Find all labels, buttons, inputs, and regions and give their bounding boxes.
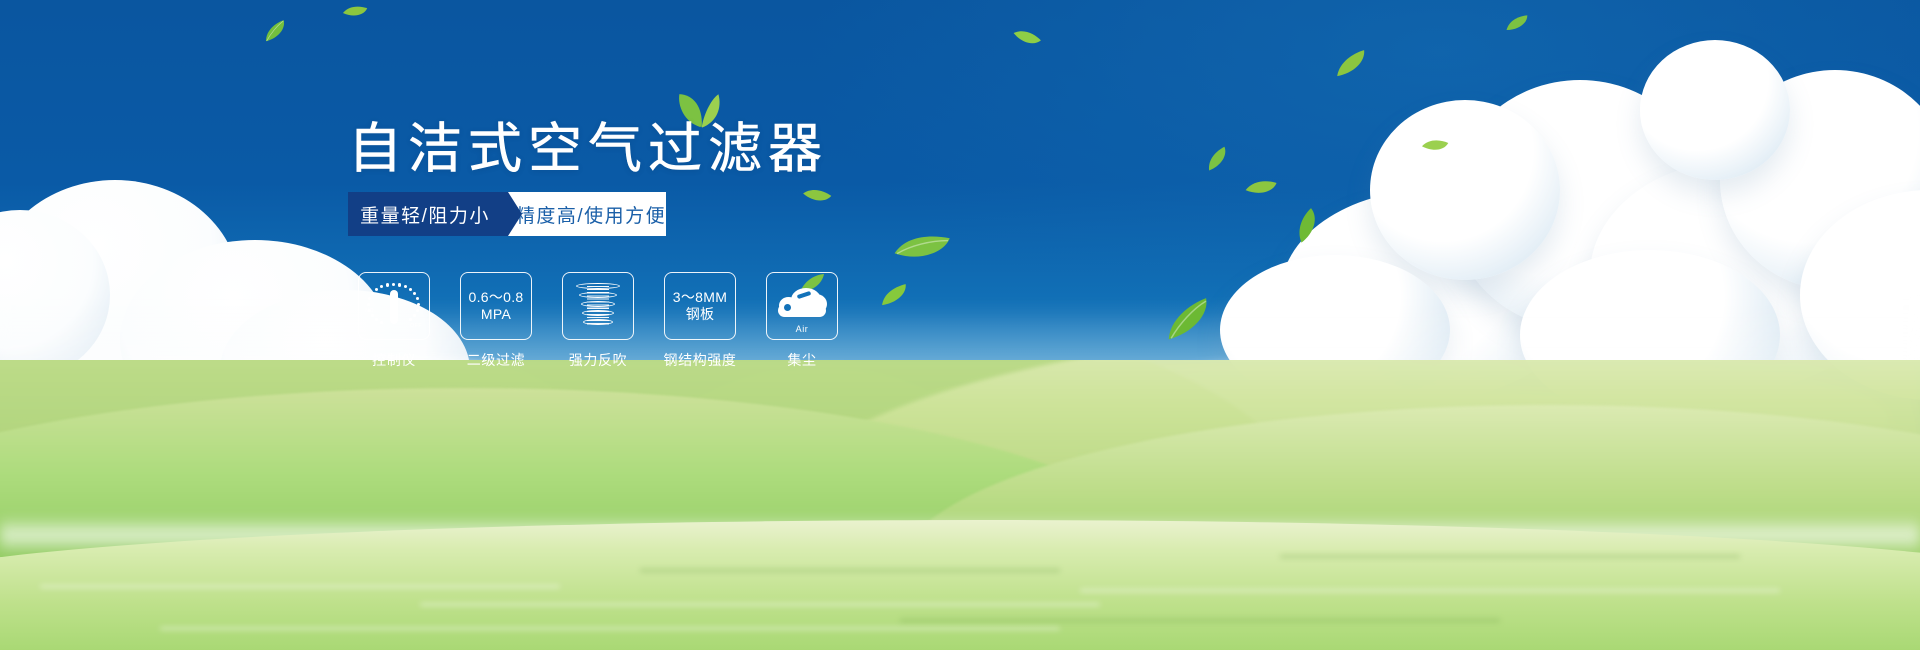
feature-value-line2: MPA [468,306,523,324]
air-label: Air [773,324,831,334]
feature-item-pressure: 0.6～0.8 MPA 二级过滤 [460,272,532,370]
gauge-label-off: OFF [410,323,422,329]
banner-content: 自洁式空气过滤器 重量轻/阻力小 精度高/使用方便 [0,0,1920,650]
cloud-air-icon: Air [773,280,831,332]
feature-value: 3～8MM 钢板 [673,289,727,324]
feature-item-control: NO OFF 控制仪 [358,272,430,370]
feature-value-line1: 3～8MM [673,289,727,307]
tag-secondary-label: 精度高/使用方便 [516,201,666,228]
feature-box: 3～8MM 钢板 [664,272,736,340]
feature-box [562,272,634,340]
banner-stage: 自洁式空气过滤器 重量轻/阻力小 精度高/使用方便 [0,0,1920,650]
feature-label: 控制仪 [372,350,416,370]
feature-list: NO OFF 控制仪 0.6～0.8 MPA 二级过滤 [358,272,838,370]
feature-label: 强力反吹 [569,350,627,370]
page-title: 自洁式空气过滤器 [348,118,828,182]
feature-value-line2: 钢板 [673,306,727,324]
feature-label: 二级过滤 [467,350,525,370]
gauge-needle [390,290,398,324]
coil-icon [573,282,623,330]
feature-box: Air [766,272,838,340]
feature-item-steel: 3～8MM 钢板 钢结构强度 [664,272,736,370]
tag-primary: 重量轻/阻力小 [348,192,508,236]
tag-primary-label: 重量轻/阻力小 [360,201,490,228]
tagline-group: 重量轻/阻力小 精度高/使用方便 [348,192,666,236]
gauge-label-no: NO [365,308,374,314]
feature-value-line1: 0.6～0.8 [468,289,523,307]
feature-item-dust: Air 集尘 [766,272,838,370]
feature-item-backblow: 强力反吹 [562,272,634,370]
tag-secondary: 精度高/使用方便 [508,192,666,236]
feature-box: NO OFF [358,272,430,340]
gauge-icon: NO OFF [367,281,421,331]
feature-value: 0.6～0.8 MPA [468,289,523,324]
feature-label: 钢结构强度 [664,350,737,370]
feature-label: 集尘 [787,350,816,370]
feature-box: 0.6～0.8 MPA [460,272,532,340]
